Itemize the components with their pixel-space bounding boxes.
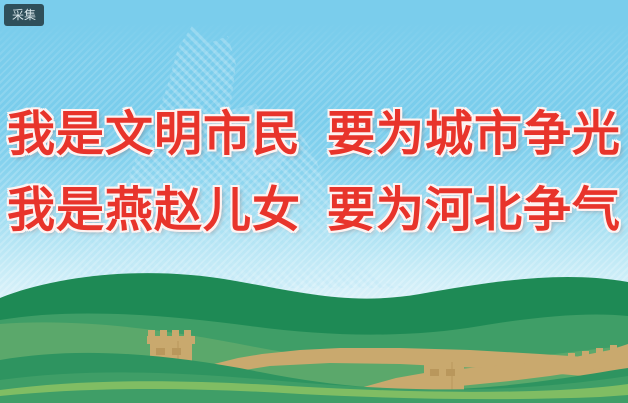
slogan-line-1-part-1: 我是文明市民 <box>7 106 301 162</box>
slogan-line-1-part-2: 要为城市争光 <box>327 106 621 162</box>
slogan-line-2-part-1: 我是燕赵儿女 <box>7 182 301 238</box>
slogan-line-2: 我是燕赵儿女要为河北争气 <box>0 172 628 248</box>
poster-canvas: 我是文明市民要为城市争光 我是燕赵儿女要为河北争气 <box>0 0 628 403</box>
slogan-line-2-part-2: 要为河北争气 <box>327 182 621 238</box>
capture-button[interactable]: 采集 <box>4 4 44 26</box>
slogan-block: 我是文明市民要为城市争光 我是燕赵儿女要为河北争气 <box>0 96 628 248</box>
landscape-illustration <box>0 268 628 403</box>
slogan-line-1: 我是文明市民要为城市争光 <box>0 96 628 172</box>
